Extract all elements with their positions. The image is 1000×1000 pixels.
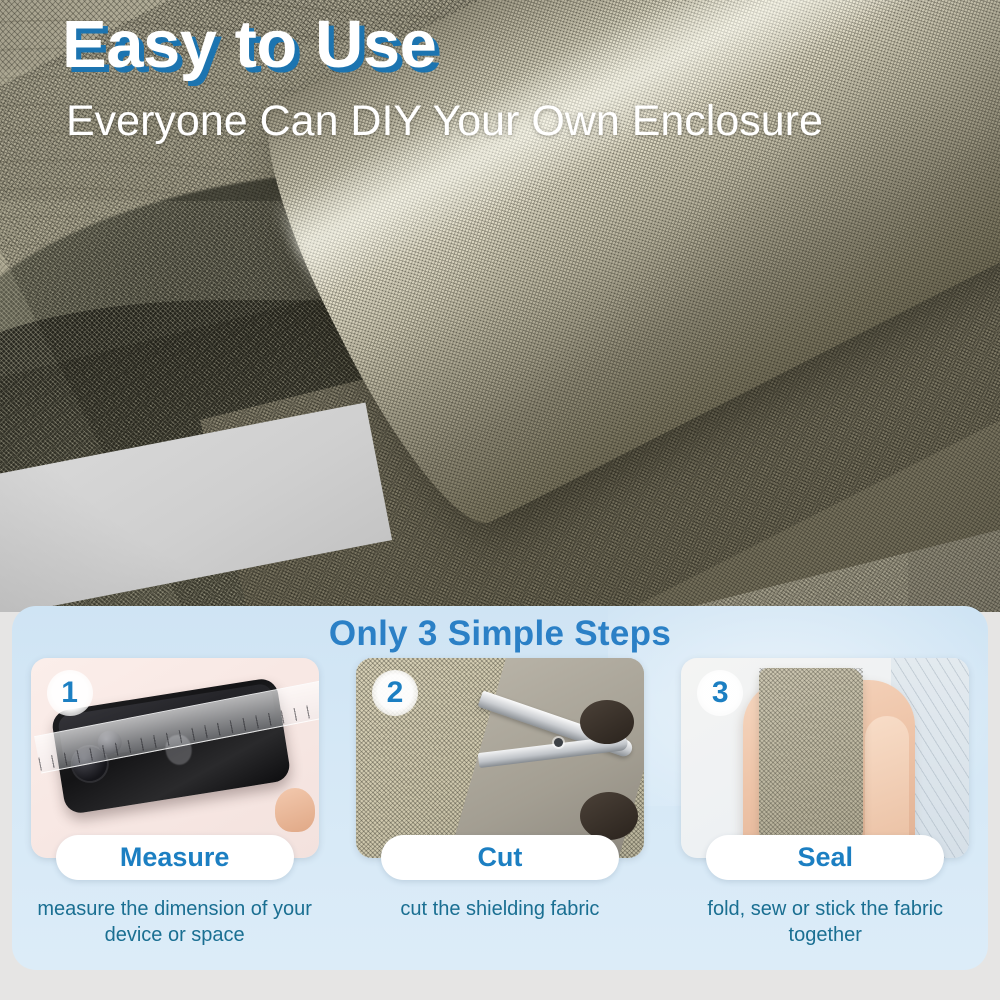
step-3-image: 3 <box>681 658 969 858</box>
step-1-label: Measure <box>56 835 294 880</box>
step-number-badge: 3 <box>697 670 743 716</box>
steps-list: 1 Measure measure the dimension of your … <box>12 658 988 970</box>
step-2-label: Cut <box>381 835 619 880</box>
page-title: Easy to Use <box>62 10 962 80</box>
step-1-caption: measure the dimension of your device or … <box>30 897 320 948</box>
step-number-badge: 2 <box>372 670 418 716</box>
scissors-pivot <box>554 738 563 747</box>
steps-title: Only 3 Simple Steps <box>12 614 988 654</box>
step-2-image: 2 <box>356 658 644 858</box>
step-1-image: 1 <box>31 658 319 858</box>
scissors-handle-upper <box>580 700 634 744</box>
step-card-cut: 2 Cut cut the shielding fabric <box>337 658 662 970</box>
product-infographic: Easy to Use Everyone Can DIY Your Own En… <box>0 0 1000 1000</box>
pouch-weave <box>759 668 863 840</box>
step-2-caption: cut the shielding fabric <box>355 897 645 923</box>
hero-text-block: Easy to Use Everyone Can DIY Your Own En… <box>62 10 962 149</box>
step-3-label: Seal <box>706 835 944 880</box>
step-3-caption: fold, sew or stick the fabric together <box>680 897 970 948</box>
fabric-pouch <box>759 668 863 840</box>
steps-panel: Only 3 Simple Steps 1 M <box>12 606 988 970</box>
step-card-measure: 1 Measure measure the dimension of your … <box>12 658 337 970</box>
step-number-badge: 1 <box>47 670 93 716</box>
scissors-handle-lower <box>580 792 638 840</box>
finger-illustration <box>275 788 315 832</box>
step-card-seal: 3 Seal fold, sew or stick the fabric tog… <box>663 658 988 970</box>
page-subtitle: Everyone Can DIY Your Own Enclosure <box>66 94 962 149</box>
